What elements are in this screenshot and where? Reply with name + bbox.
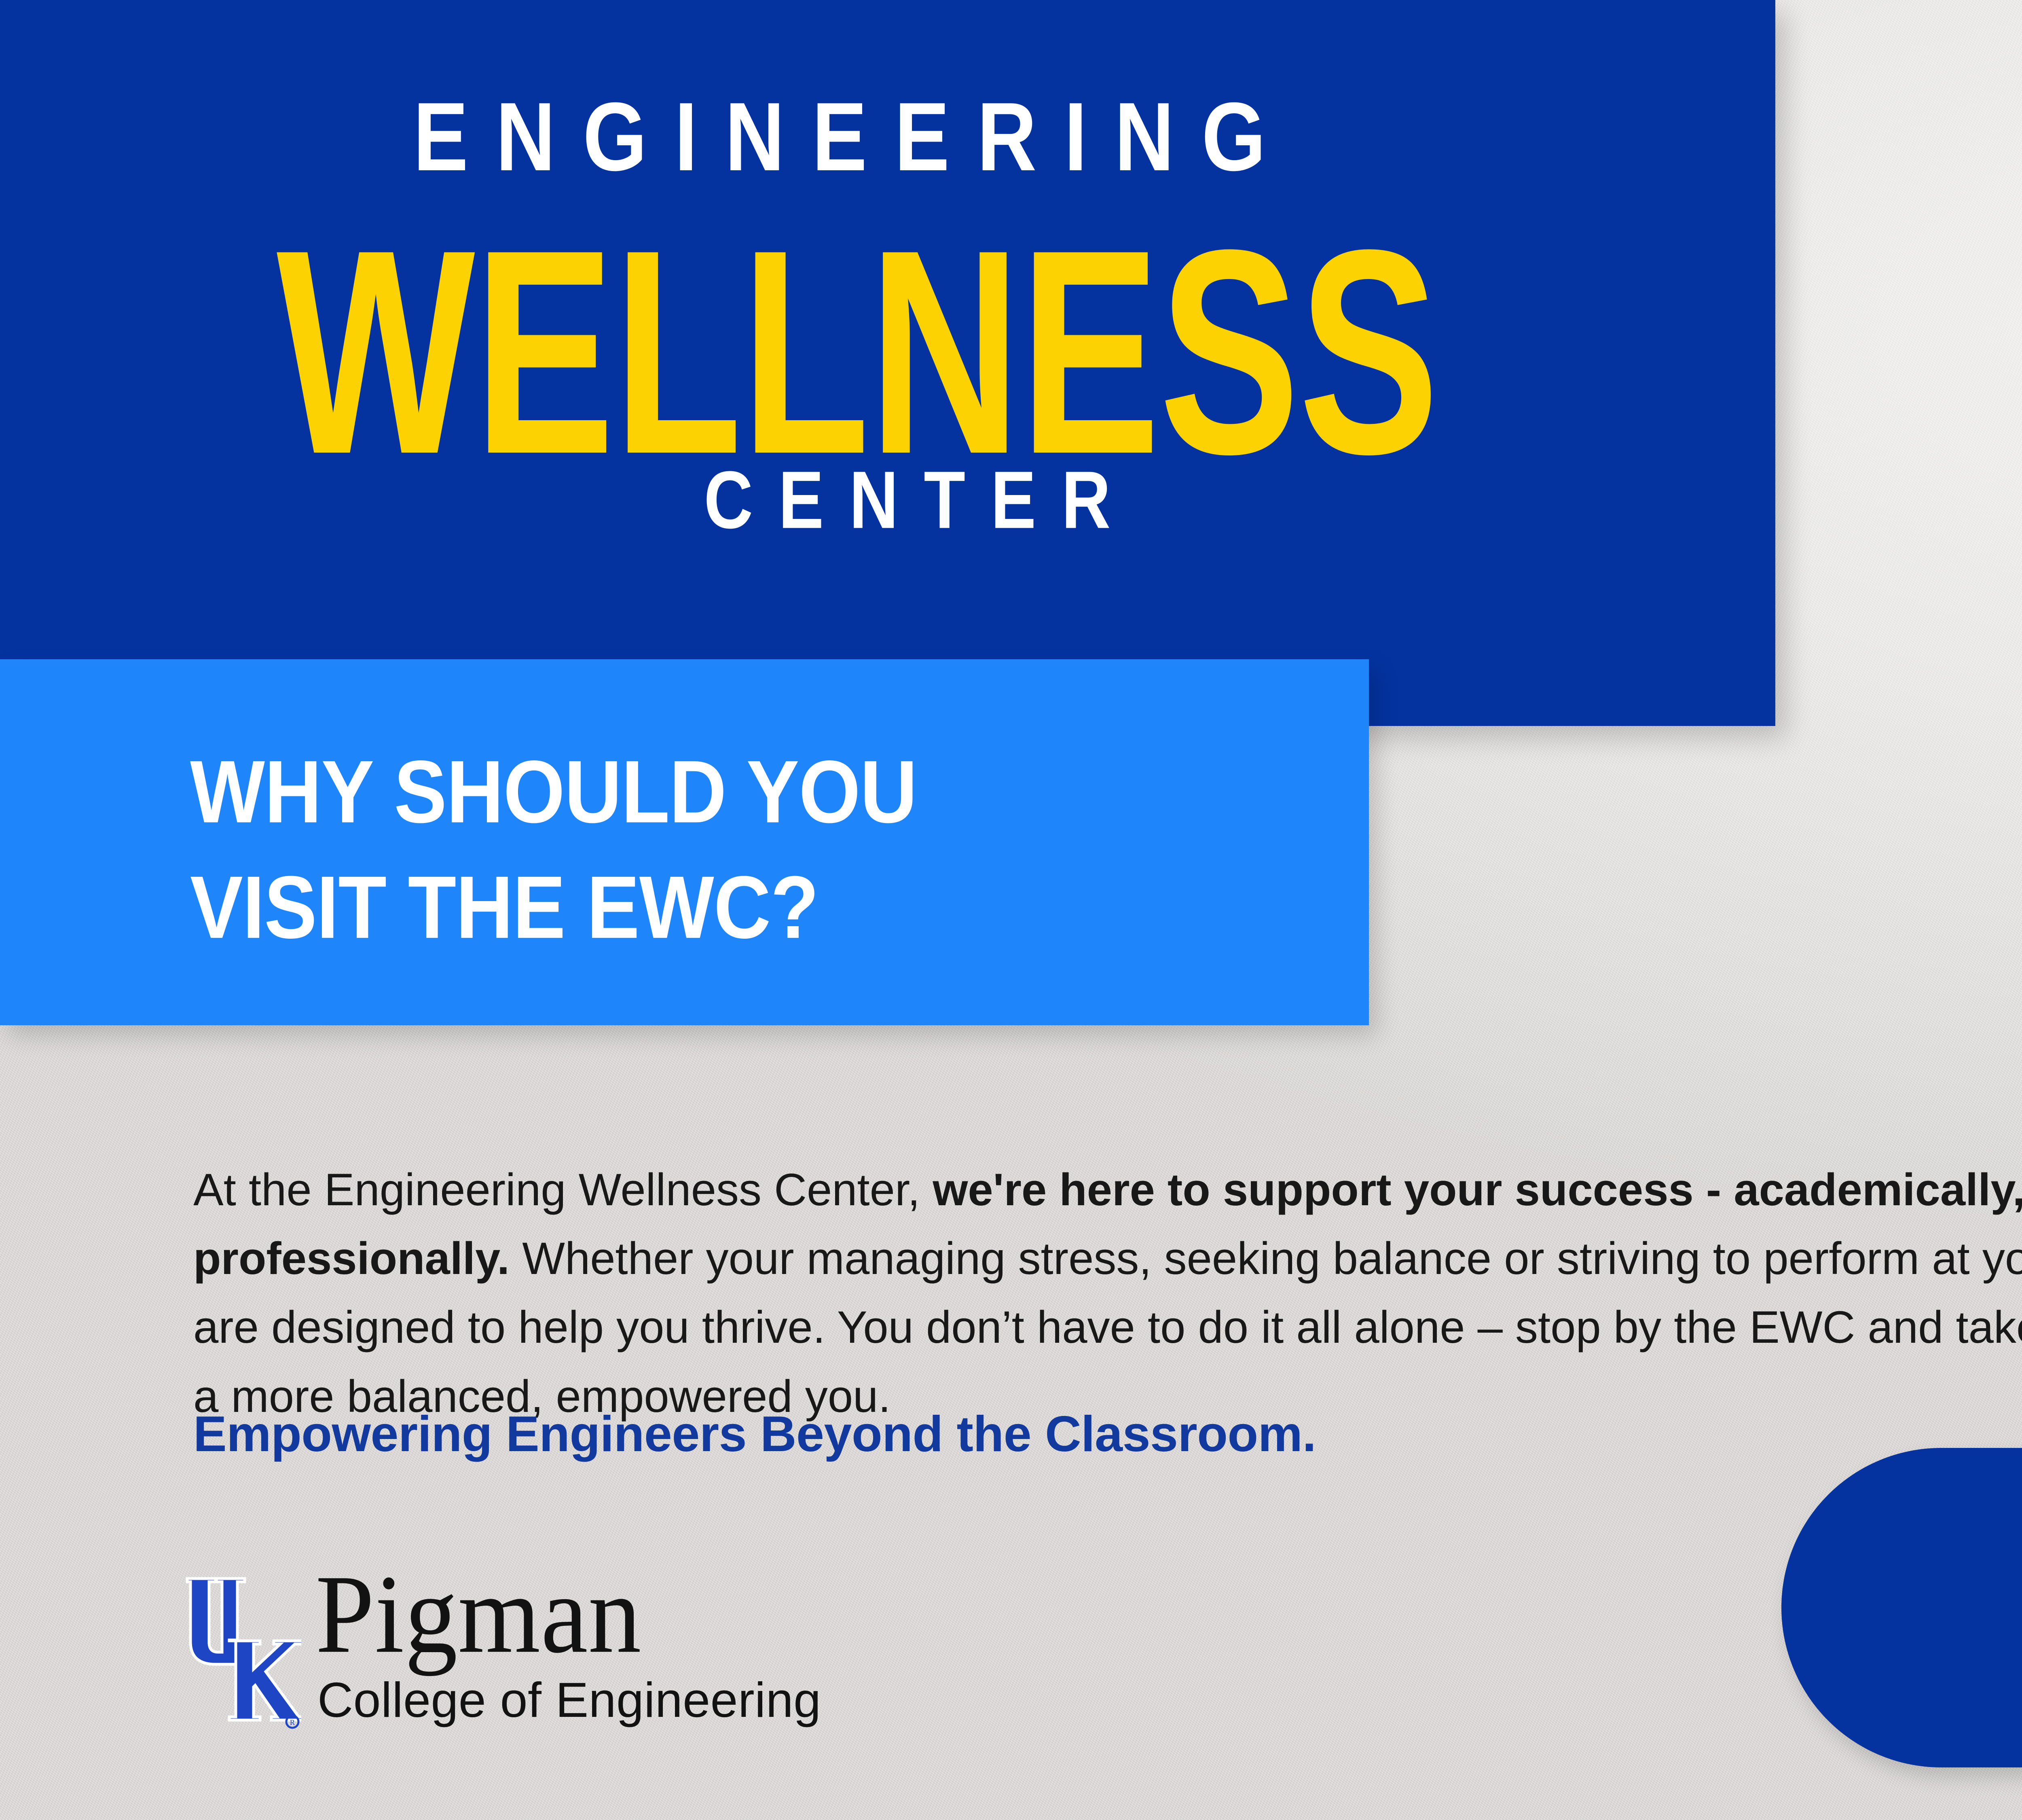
pigman-subtitle: College of Engineering (317, 1675, 821, 1725)
svg-text:R: R (290, 1718, 295, 1727)
uk-pigman-logo: R Pigman College of Engineering (184, 1569, 912, 1739)
poster-canvas: ENGINEERING WELLNESS CENTER WHY SHOULD Y… (0, 0, 2022, 1820)
body-intro: At the Engineering Wellness Center, (193, 1164, 933, 1215)
banner-heading-line-2: VISIT THE EWC? (190, 850, 917, 965)
why-visit-banner: WHY SHOULD YOU VISIT THE EWC? (0, 659, 1369, 1025)
tagline: Empowering Engineers Beyond the Classroo… (193, 1405, 1316, 1463)
uk-monogram-icon: R (184, 1571, 301, 1733)
pigman-wordmark: Pigman (315, 1558, 642, 1670)
body-paragraph: At the Engineering Wellness Center, we'r… (193, 1155, 2022, 1431)
header-block: ENGINEERING WELLNESS CENTER (0, 0, 1775, 726)
header-engineering-text: ENGINEERING (0, 88, 1707, 186)
banner-heading: WHY SHOULD YOU VISIT THE EWC? (190, 734, 917, 965)
header-wellness-text: WELLNESS (0, 206, 1749, 497)
banner-heading-line-1: WHY SHOULD YOU (190, 734, 917, 850)
header-center-text: CENTER (133, 459, 1707, 541)
hours-location-pill: HOURS & LOCATION: Various times availabl… (1781, 1448, 2022, 1767)
